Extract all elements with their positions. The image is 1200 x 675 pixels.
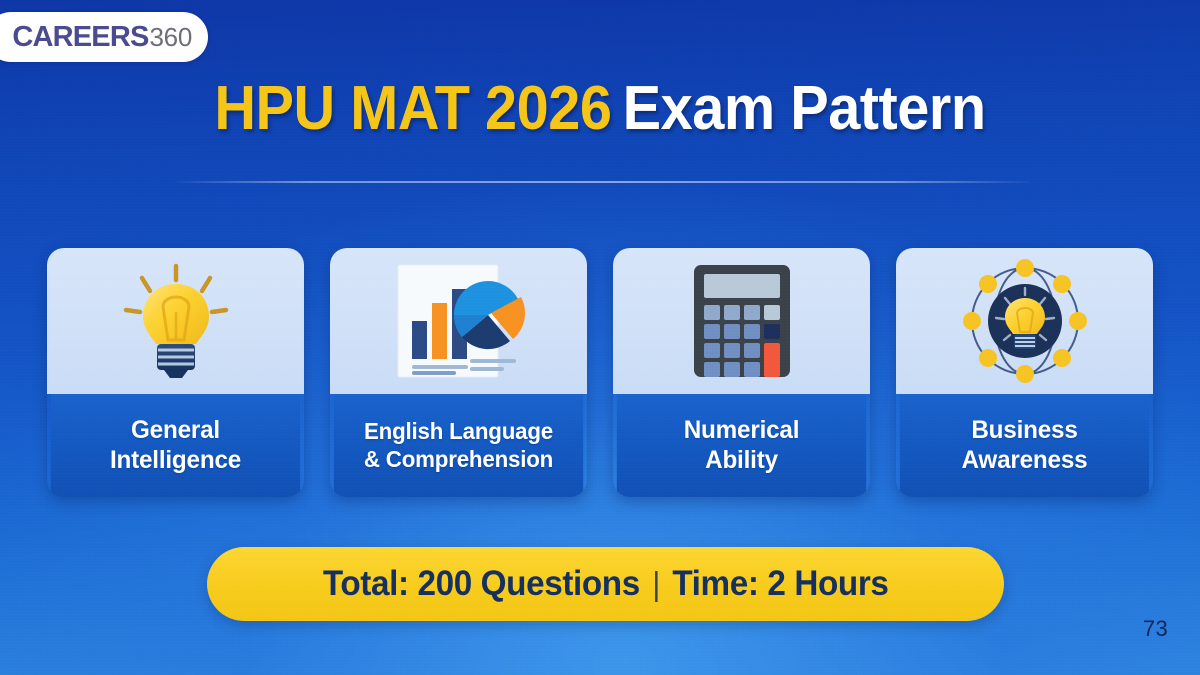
page-title: HPU MAT 2026Exam Pattern bbox=[42, 78, 1158, 140]
title-rest: Exam Pattern bbox=[623, 74, 986, 143]
calculator-icon bbox=[686, 259, 798, 383]
logo-text: CAREERS360 bbox=[12, 21, 192, 54]
card-label-english-language: English Language & Comprehension bbox=[334, 394, 583, 497]
card-icon-area bbox=[613, 248, 870, 394]
subject-card-english-language[interactable]: English Language & Comprehension bbox=[330, 248, 587, 497]
card-label-line2: Ability bbox=[705, 446, 778, 474]
subject-card-general-intelligence[interactable]: General Intelligence bbox=[47, 248, 304, 497]
logo-careers-word: CAREERS bbox=[12, 21, 148, 54]
lightbulb-icon bbox=[116, 260, 236, 382]
summary-banner-text: Total: 200 Questions | Time: 2 Hours bbox=[323, 564, 889, 604]
card-label-line1: English Language bbox=[364, 418, 553, 444]
idea-network-icon bbox=[958, 254, 1092, 388]
card-icon-area bbox=[896, 248, 1153, 394]
title-divider bbox=[175, 181, 1030, 183]
card-label-line1: Business bbox=[971, 416, 1077, 444]
card-label-numerical-ability: Numerical Ability bbox=[617, 394, 866, 497]
summary-banner: Total: 200 Questions | Time: 2 Hours bbox=[207, 547, 1004, 621]
total-questions-label: Total: 200 Questions bbox=[323, 564, 640, 604]
page-number: 73 bbox=[1143, 616, 1168, 642]
title-highlight: HPU MAT 2026 bbox=[214, 74, 611, 143]
card-icon-area bbox=[47, 248, 304, 394]
subject-card-list: General Intelligence bbox=[47, 248, 1153, 497]
banner-separator: | bbox=[652, 565, 660, 603]
card-label-line1: Numerical bbox=[684, 416, 800, 444]
card-label-general-intelligence: General Intelligence bbox=[51, 394, 300, 497]
card-icon-area bbox=[330, 248, 587, 394]
subject-card-numerical-ability[interactable]: Numerical Ability bbox=[613, 248, 870, 497]
card-label-line1: General bbox=[131, 416, 220, 444]
infographic-canvas: CAREERS360 HPU MAT 2026Exam Pattern bbox=[0, 0, 1200, 675]
card-label-line2: Intelligence bbox=[110, 446, 241, 474]
card-label-business-awareness: Business Awareness bbox=[900, 394, 1149, 497]
logo-360-word: 360 bbox=[150, 22, 192, 53]
careers360-logo: CAREERS360 bbox=[0, 12, 208, 62]
card-label-line2: Awareness bbox=[962, 446, 1088, 474]
card-label-line2: & Comprehension bbox=[364, 446, 553, 472]
exam-time-label: Time: 2 Hours bbox=[672, 564, 888, 604]
report-chart-icon bbox=[384, 259, 534, 383]
subject-card-business-awareness[interactable]: Business Awareness bbox=[896, 248, 1153, 497]
